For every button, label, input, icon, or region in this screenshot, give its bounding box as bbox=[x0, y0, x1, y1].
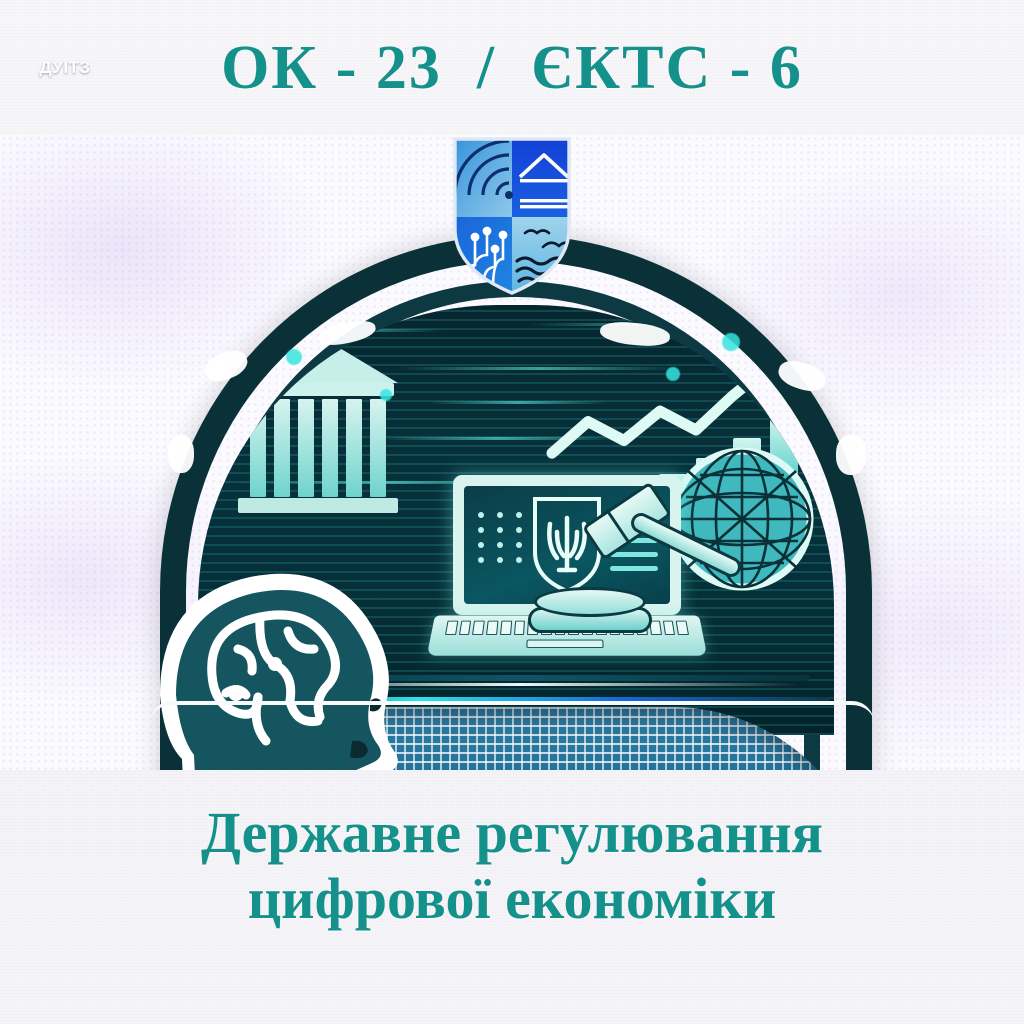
ground-rim-highlight bbox=[150, 701, 874, 723]
building-columns bbox=[250, 399, 386, 497]
building-base bbox=[238, 498, 398, 513]
crest-quadrant-radio-waves bbox=[447, 133, 512, 217]
course-title-line-1: Державне регулювання bbox=[201, 800, 823, 866]
building-pediment bbox=[238, 335, 398, 383]
screen-dot-grid bbox=[478, 512, 526, 563]
course-title-block: Державне регулювання цифрової економіки bbox=[0, 800, 1024, 1000]
glow-blob bbox=[168, 435, 194, 473]
course-title-line-2: цифрової економіки bbox=[248, 866, 777, 932]
cyan-dot bbox=[380, 389, 392, 401]
university-crest-logo bbox=[447, 133, 577, 298]
course-code-heading: ОК - 23 / ЄКТС - 6 bbox=[221, 37, 803, 99]
government-building-icon bbox=[238, 335, 398, 515]
gavel-handle bbox=[628, 510, 745, 581]
header-band: ОК - 23 / ЄКТС - 6 bbox=[0, 0, 1024, 135]
human-head-profile-icon bbox=[142, 545, 442, 770]
cyan-dot bbox=[286, 349, 302, 365]
glow-blob bbox=[836, 435, 866, 475]
gavel-sound-block bbox=[528, 587, 652, 631]
glow-line bbox=[528, 323, 818, 326]
cyan-dot bbox=[666, 367, 680, 381]
cyan-dot bbox=[722, 333, 740, 351]
judge-gavel-icon bbox=[582, 491, 742, 641]
building-architrave bbox=[242, 383, 394, 396]
poster-page: ОК - 23 / ЄКТС - 6 bbox=[0, 0, 1024, 1024]
